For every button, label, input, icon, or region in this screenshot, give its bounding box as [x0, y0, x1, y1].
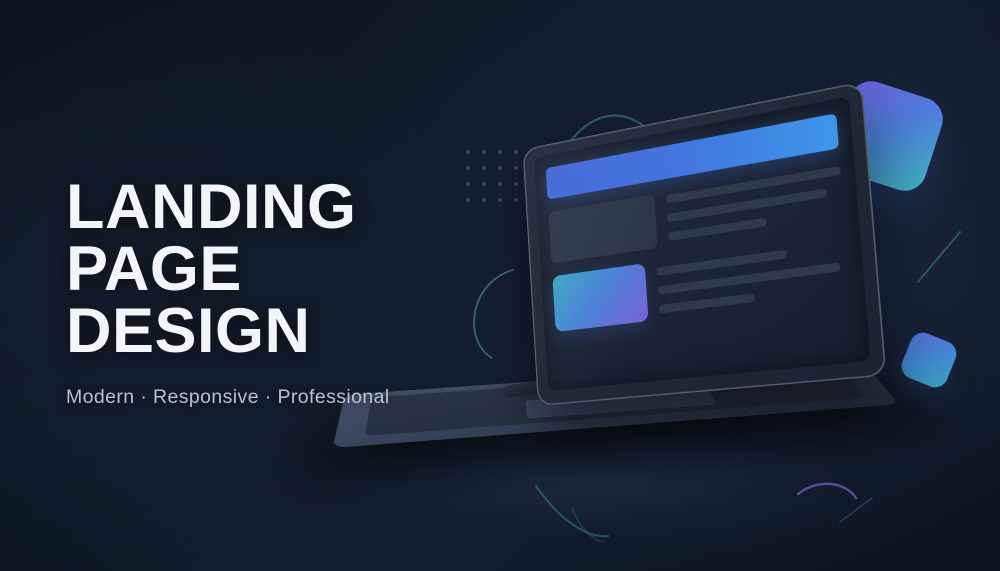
laptop-screen — [534, 96, 871, 391]
line-right-cyan-2-icon — [840, 498, 872, 522]
headline-line-2: PAGE — [66, 238, 486, 300]
arc-bottom-purple-icon — [798, 484, 856, 498]
mock-text-bar — [659, 293, 755, 313]
hero-text-block: LANDING PAGE DESIGN Modern · Responsive … — [66, 176, 486, 409]
line-right-cyan-icon — [918, 232, 960, 282]
page-title: LANDING PAGE DESIGN — [66, 176, 486, 362]
tail-bottom-left-icon — [572, 508, 604, 542]
screen-mock-page — [534, 96, 871, 391]
swoop-bottom-teal-icon — [536, 486, 608, 536]
hero-subtitle: Modern · Responsive · Professional — [66, 386, 486, 409]
mock-gradient-card — [552, 263, 648, 332]
hero-banner: LANDING PAGE DESIGN Modern · Responsive … — [0, 0, 1000, 571]
mock-text-bar — [668, 217, 768, 240]
laptop-lid — [523, 81, 887, 406]
headline-line-1: LANDING — [66, 176, 486, 238]
mock-image-placeholder — [548, 194, 657, 263]
headline-line-3: DESIGN — [66, 300, 486, 362]
